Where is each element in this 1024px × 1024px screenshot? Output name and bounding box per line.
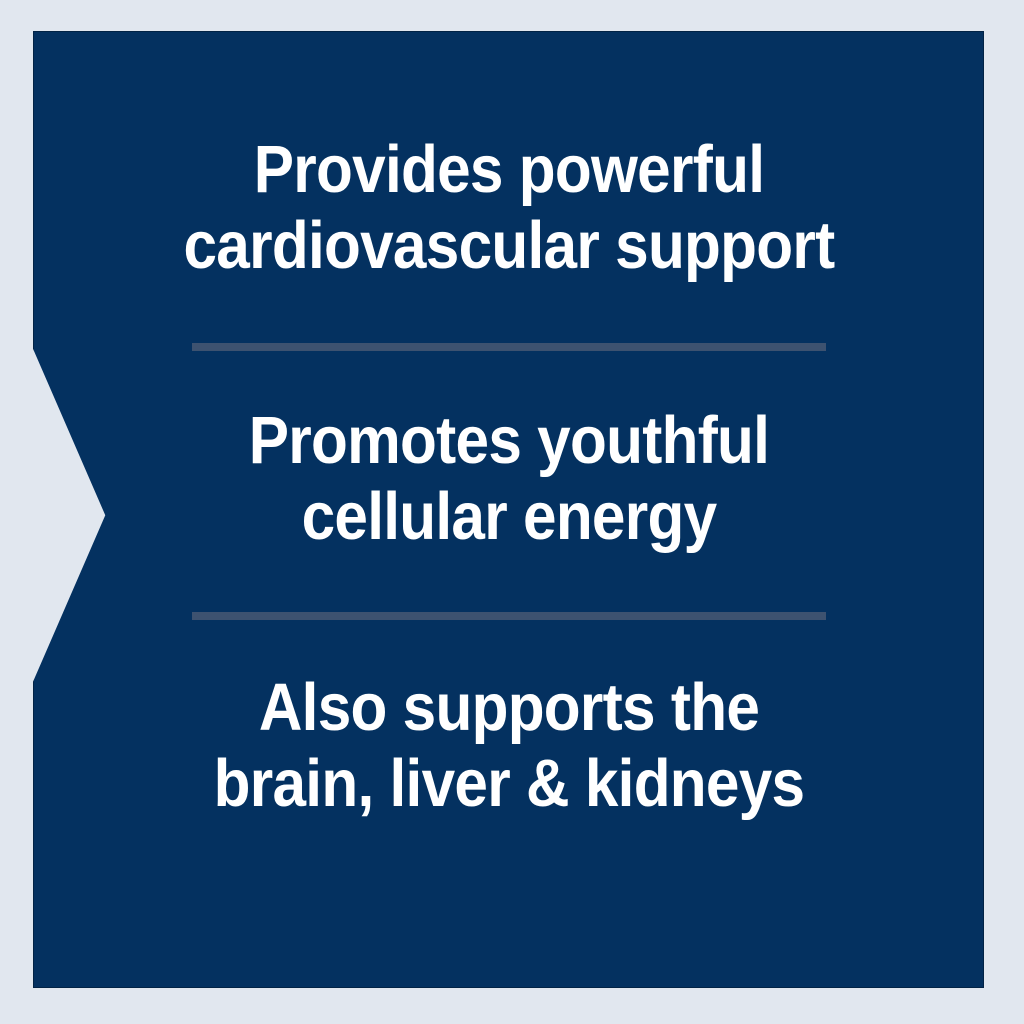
- benefit-item-organ-support: Also supports the brain, liver & kidneys: [149, 670, 869, 821]
- benefit-list: Provides powerful cardiovascular support…: [33, 31, 984, 988]
- benefit-item-cellular-energy: Promotes youthful cellular energy: [149, 403, 869, 554]
- benefit-divider-2: [192, 612, 826, 620]
- benefit-divider-1: [192, 343, 826, 351]
- benefit-item-cardiovascular-support: Provides powerful cardiovascular support: [149, 132, 869, 283]
- benefit-callout-graphic: Provides powerful cardiovascular support…: [0, 0, 1024, 1024]
